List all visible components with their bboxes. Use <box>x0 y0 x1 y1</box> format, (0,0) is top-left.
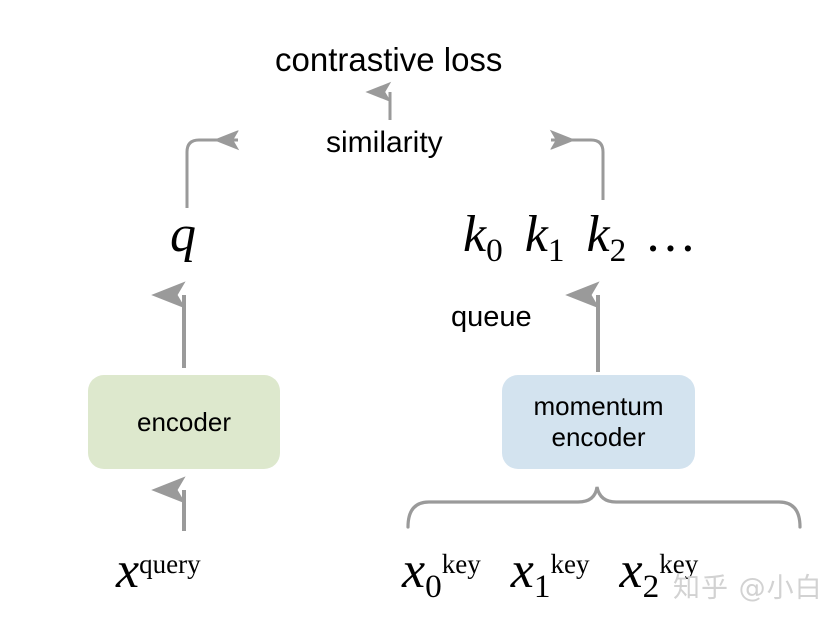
key-embedding-symbol: k0 <box>463 205 503 270</box>
key-input-symbol: x0key <box>402 541 481 606</box>
arrow-keys-to-similarity <box>551 140 603 200</box>
similarity-label: similarity <box>326 125 443 160</box>
key-input-symbol: x1key <box>511 541 590 606</box>
key-embeddings-row: k0 k1 k2 … <box>463 205 694 270</box>
zhihu-watermark: 知乎 @小白 <box>673 566 823 605</box>
query-input-symbol: xquery <box>116 541 201 600</box>
encoder-box[interactable]: encoder <box>88 375 280 469</box>
arrow-q-to-similarity <box>187 140 238 208</box>
key-embedding-symbol: k1 <box>525 205 565 270</box>
key-embeddings-ellipsis: … <box>648 205 694 264</box>
momentum-encoder-box-label-line1: momentum <box>533 391 663 422</box>
momentum-encoder-box-label-line2: encoder <box>552 422 646 453</box>
queue-label: queue <box>451 300 532 334</box>
key-inputs-brace <box>408 487 800 527</box>
key-embedding-symbol: k2 <box>586 205 626 270</box>
query-embedding-symbol: q <box>170 205 196 264</box>
momentum-encoder-box[interactable]: momentum encoder <box>502 375 695 469</box>
figure-canvas: contrastive loss similarity q k0 k1 k2 …… <box>0 0 826 634</box>
connectors-layer <box>0 0 826 634</box>
contrastive-loss-label: contrastive loss <box>275 41 502 80</box>
key-inputs-row: x0key x1key x2key <box>402 541 698 606</box>
encoder-box-label: encoder <box>137 407 231 438</box>
